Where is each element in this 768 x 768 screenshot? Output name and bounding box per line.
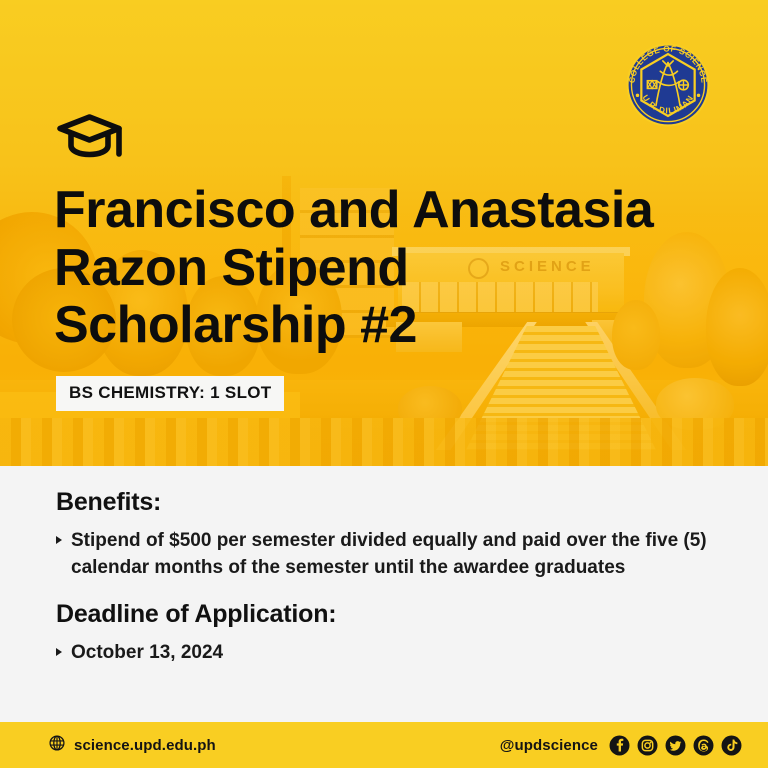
benefits-heading: Benefits: — [56, 488, 716, 517]
title-line-3: Scholarship #2 — [54, 297, 734, 355]
tiktok-icon[interactable] — [721, 735, 742, 756]
page-title: Francisco and Anastasia Razon Stipend Sc… — [54, 182, 734, 355]
scholarship-announcement-poster: SCIENCE — [0, 0, 768, 768]
triangle-bullet-icon — [56, 648, 62, 656]
facebook-icon[interactable] — [609, 735, 630, 756]
hero-content: Francisco and Anastasia Razon Stipend Sc… — [0, 0, 768, 466]
deadline-heading: Deadline of Application: — [56, 600, 716, 629]
globe-icon — [48, 734, 66, 757]
deadline-date: October 13, 2024 — [71, 642, 223, 663]
footer-bar: science.upd.edu.ph @updscience — [0, 722, 768, 768]
footer-social: @updscience — [500, 722, 742, 768]
twitter-icon[interactable] — [665, 735, 686, 756]
footer-website[interactable]: science.upd.edu.ph — [48, 722, 216, 768]
deadline-list: October 13, 2024 — [56, 640, 716, 667]
list-item: Stipend of $500 per semester divided equ… — [56, 528, 716, 582]
instagram-icon[interactable] — [637, 735, 658, 756]
college-of-science-seal-logo: COLLEGE OF SCIENCE U.P. DILIMAN — [625, 42, 711, 133]
website-url[interactable]: science.upd.edu.ph — [74, 737, 216, 754]
list-item: October 13, 2024 — [56, 640, 716, 667]
threads-icon[interactable] — [693, 735, 714, 756]
benefits-list: Stipend of $500 per semester divided equ… — [56, 528, 716, 582]
title-line-1: Francisco and Anastasia — [54, 182, 734, 240]
social-handle: @updscience — [500, 737, 598, 754]
benefit-text: Stipend of $500 per semester divided equ… — [71, 530, 707, 578]
benefits-block: Benefits: Stipend of $500 per semester d… — [56, 488, 716, 582]
details-section: Benefits: Stipend of $500 per semester d… — [0, 466, 768, 722]
hero-section: SCIENCE — [0, 0, 768, 466]
graduation-cap-icon — [56, 112, 128, 167]
title-line-2: Razon Stipend — [54, 240, 734, 298]
slot-badge: BS CHEMISTRY: 1 SLOT — [56, 376, 284, 411]
deadline-block: Deadline of Application: October 13, 202… — [56, 600, 716, 667]
triangle-bullet-icon — [56, 536, 62, 544]
